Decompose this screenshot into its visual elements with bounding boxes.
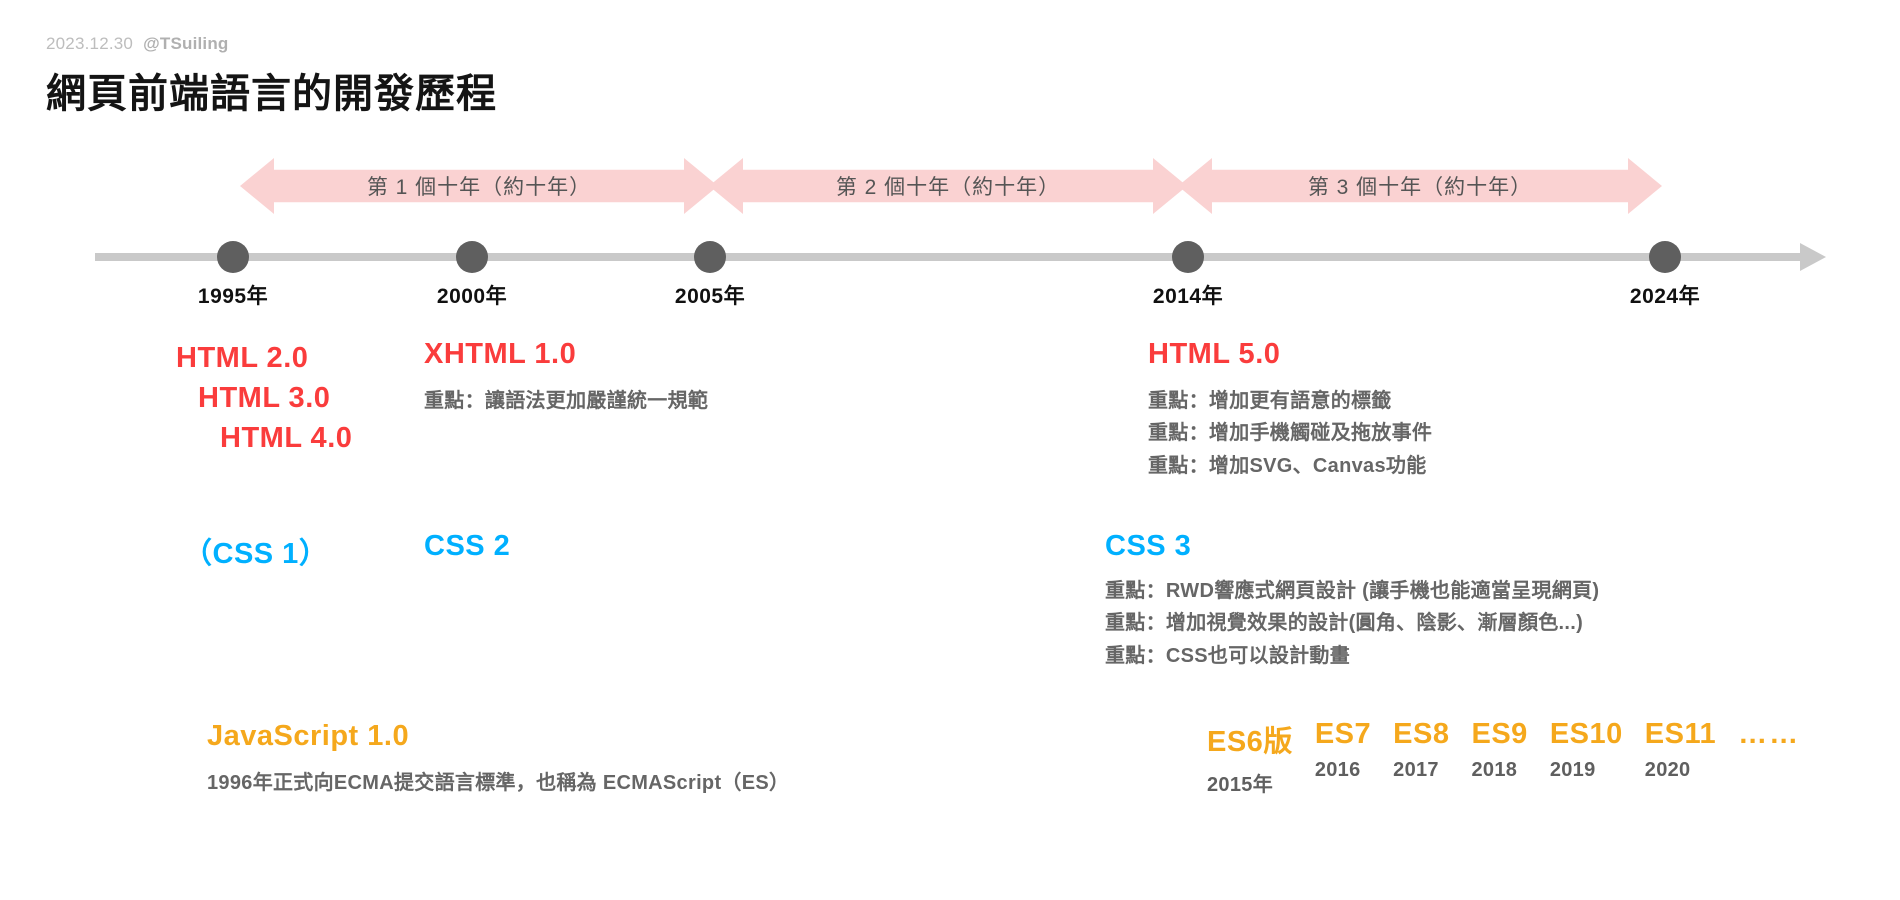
html5-notes: 重點：增加更有語意的標籤 重點：增加手機觸碰及拖放事件 重點：增加SVG、Can… [1148,385,1432,482]
decade-arrow-1: 第 1 個十年（約十年） [240,158,718,214]
timeline-year-2014: 2014年 [1153,280,1223,310]
timeline-dot-2005 [694,241,726,273]
css3-note-3: 重點：CSS也可以設計動畫 [1105,640,1599,672]
javascript-block: JavaScript 1.0 1996年正式向ECMA提交語言標準，也稱為 EC… [207,720,789,799]
es-name-es8: ES8 [1393,718,1449,751]
timeline-dot-1995 [217,241,249,273]
es-item-es9: ES9 2018 [1471,718,1527,782]
css2-block: CSS 2 [424,530,510,563]
css1-block: （CSS 1） [183,530,328,572]
es-item-es8: ES8 2017 [1393,718,1449,782]
timeline-year-2000: 2000年 [437,280,507,310]
es-name-es11: ES11 [1645,718,1716,751]
es-item-es7: ES7 2016 [1315,718,1371,782]
css3-title: CSS 3 [1105,530,1599,563]
html5-2014-block: HTML 5.0 重點：增加更有語意的標籤 重點：增加手機觸碰及拖放事件 重點：… [1148,338,1432,482]
timeline-dot-2000 [456,241,488,273]
css1-title: （CSS 1） [183,530,328,572]
html-version-4: HTML 4.0 [176,418,352,458]
es-name-es6: ES6版 [1207,718,1293,760]
css3-notes: 重點：RWD響應式網頁設計 (讓手機也能適當呈現網頁) 重點：增加視覺效果的設計… [1105,575,1599,672]
ecmascript-version-row: ES6版 2015年 ES7 2016 ES8 2017 ES9 2018 ES… [1207,718,1800,797]
byline-date: 2023.12.30 [46,34,133,53]
decade-arrow-3-label: 第 3 個十年（約十年） [1308,171,1532,201]
javascript-note: 1996年正式向ECMA提交語言標準，也稱為 ECMAScript（ES） [207,767,789,799]
timeline-year-2005: 2005年 [675,280,745,310]
timeline-year-1995: 1995年 [198,280,268,310]
timeline-year-2024: 2024年 [1630,280,1700,310]
timeline-arrowhead-icon [1800,243,1826,271]
css3-note-1: 重點：RWD響應式網頁設計 (讓手機也能適當呈現網頁) [1105,575,1599,607]
byline-handle: @TSuiling [143,34,228,53]
decade-arrow-1-label: 第 1 個十年（約十年） [367,171,591,201]
html-version-2: HTML 2.0 [176,338,352,378]
timeline-axis [95,253,1805,261]
javascript-title: JavaScript 1.0 [207,720,789,753]
xhtml-title: XHTML 1.0 [424,338,708,371]
timeline-dot-2014 [1172,241,1204,273]
html5-note-1: 重點：增加更有語意的標籤 [1148,385,1432,417]
header: 2023.12.30@TSuiling 網頁前端語言的開發歷程 [46,34,497,119]
html5-title: HTML 5.0 [1148,338,1432,371]
decade-arrow-2-label: 第 2 個十年（約十年） [836,171,1060,201]
es-name-es9: ES9 [1471,718,1527,751]
xhtml-2000-block: XHTML 1.0 重點：讓語法更加嚴謹統一規範 [424,338,708,417]
decade-arrow-3: 第 3 個十年（約十年） [1178,158,1662,214]
css2-title: CSS 2 [424,530,510,563]
es-item-es11: ES11 2020 [1645,718,1716,782]
html-version-3: HTML 3.0 [176,378,352,418]
es-item-more: …… [1738,718,1800,759]
es-name-es7: ES7 [1315,718,1371,751]
es-item-es6: ES6版 2015年 [1207,718,1293,797]
es-year-es9: 2018 [1471,759,1527,782]
es-year-es6: 2015年 [1207,768,1293,797]
html5-note-2: 重點：增加手機觸碰及拖放事件 [1148,417,1432,449]
html-1995-block: HTML 2.0 HTML 3.0 HTML 4.0 [176,338,352,458]
es-item-es10: ES10 2019 [1550,718,1623,782]
html5-note-3: 重點：增加SVG、Canvas功能 [1148,450,1432,482]
es-year-es7: 2016 [1315,759,1371,782]
es-year-es10: 2019 [1550,759,1623,782]
xhtml-note: 重點：讓語法更加嚴謹統一規範 [424,385,708,417]
byline: 2023.12.30@TSuiling [46,34,497,54]
es-year-es11: 2020 [1645,759,1716,782]
es-name-es10: ES10 [1550,718,1623,751]
timeline-dot-2024 [1649,241,1681,273]
es-name-more: …… [1738,718,1800,751]
css3-block: CSS 3 重點：RWD響應式網頁設計 (讓手機也能適當呈現網頁) 重點：增加視… [1105,530,1599,672]
css3-note-2: 重點：增加視覺效果的設計(圓角、陰影、漸層顏色...) [1105,607,1599,639]
page-title: 網頁前端語言的開發歷程 [46,61,497,119]
es-year-es8: 2017 [1393,759,1449,782]
decade-arrow-2: 第 2 個十年（約十年） [709,158,1187,214]
